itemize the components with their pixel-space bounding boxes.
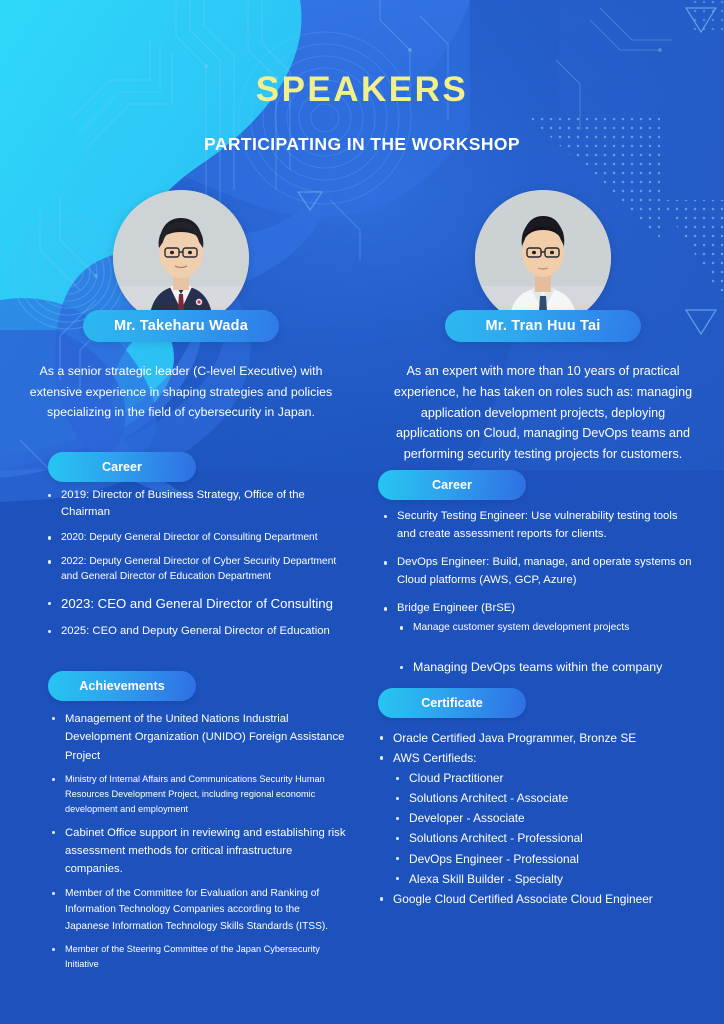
page-title: SPEAKERS — [0, 72, 724, 107]
section-pill-certificate: Certificate — [378, 688, 526, 718]
list-item: Managing DevOps teams within the company — [397, 658, 694, 677]
career-list: Security Testing Engineer: Use vulnerabi… — [382, 508, 694, 688]
poster-content: SPEAKERS PARTICIPATING IN THE WORKSHOP — [0, 0, 724, 1024]
list-item: 2023: CEO and General Director of Consul… — [46, 594, 346, 614]
list-item: Member of the Committee for Evaluation a… — [50, 886, 346, 936]
avatar — [113, 190, 249, 326]
list-item: Developer - Associate — [393, 809, 698, 827]
poster-header: SPEAKERS PARTICIPATING IN THE WORKSHOP — [0, 72, 724, 155]
section-pill-achievements: Achievements — [48, 671, 196, 701]
list-item: Oracle Certified Java Programmer, Bronze… — [378, 729, 698, 747]
avatar — [475, 190, 611, 326]
career-list: 2019: Director of Business Strategy, Off… — [46, 487, 346, 649]
list-item: Management of the United Nations Industr… — [50, 710, 346, 765]
speaker-card-tran-huu-tai: Mr. Tran Huu Tai As an expert with more … — [362, 190, 724, 1024]
speaker-bio: As a senior strategic leader (C-level Ex… — [29, 345, 333, 423]
career-sublist: Manage customer system development proje… — [397, 620, 694, 677]
list-item: DevOps Engineer - Professional — [393, 850, 698, 868]
section-pill-career: Career — [48, 452, 196, 482]
list-item: 2025: CEO and Deputy General Director of… — [46, 623, 346, 640]
speaker-photo-wrap: Mr. Tran Huu Tai — [362, 190, 724, 345]
speaker-photo-wrap: Mr. Takeharu Wada — [0, 190, 362, 345]
speaker-bio: As an expert with more than 10 years of … — [393, 345, 693, 465]
list-item: Member of the Steering Committee of the … — [50, 942, 346, 972]
list-item: AWS Certifieds: Cloud Practitioner Solut… — [378, 749, 698, 888]
portrait-takeharu-wada — [113, 190, 249, 326]
speakers-grid: Mr. Takeharu Wada As a senior strategic … — [0, 190, 724, 1024]
list-item: DevOps Engineer: Build, manage, and oper… — [382, 554, 694, 589]
list-item: 2019: Director of Business Strategy, Off… — [46, 487, 346, 521]
page-subtitle: PARTICIPATING IN THE WORKSHOP — [0, 134, 724, 155]
portrait-tran-huu-tai — [475, 190, 611, 326]
list-item: 2022: Deputy General Director of Cyber S… — [46, 554, 346, 585]
list-item: Solutions Architect - Professional — [393, 829, 698, 847]
achievements-list: Management of the United Nations Industr… — [50, 710, 346, 979]
section-pill-career: Career — [378, 470, 526, 500]
speaker-name-badge: Mr. Takeharu Wada — [83, 310, 279, 342]
list-item: Security Testing Engineer: Use vulnerabi… — [382, 508, 694, 543]
certificate-list: Oracle Certified Java Programmer, Bronze… — [378, 729, 698, 910]
list-item-label: Bridge Engineer (BrSE) — [397, 602, 515, 614]
list-item: Manage customer system development proje… — [397, 620, 694, 636]
list-item: Google Cloud Certified Associate Cloud E… — [378, 890, 698, 908]
list-item: Ministry of Internal Affairs and Communi… — [50, 772, 346, 817]
list-item: 2020: Deputy General Director of Consult… — [46, 530, 346, 545]
aws-certifications-sublist: Cloud Practitioner Solutions Architect -… — [393, 769, 698, 888]
list-item: Bridge Engineer (BrSE) Manage customer s… — [382, 600, 694, 677]
list-item: Cloud Practitioner — [393, 769, 698, 787]
list-item-label: AWS Certifieds: — [393, 751, 476, 765]
list-item: Alexa Skill Builder - Specialty — [393, 870, 698, 888]
speaker-name-badge: Mr. Tran Huu Tai — [445, 310, 641, 342]
speaker-card-takeharu-wada: Mr. Takeharu Wada As a senior strategic … — [0, 190, 362, 1024]
list-item: Solutions Architect - Associate — [393, 789, 698, 807]
list-item: Cabinet Office support in reviewing and … — [50, 824, 346, 879]
